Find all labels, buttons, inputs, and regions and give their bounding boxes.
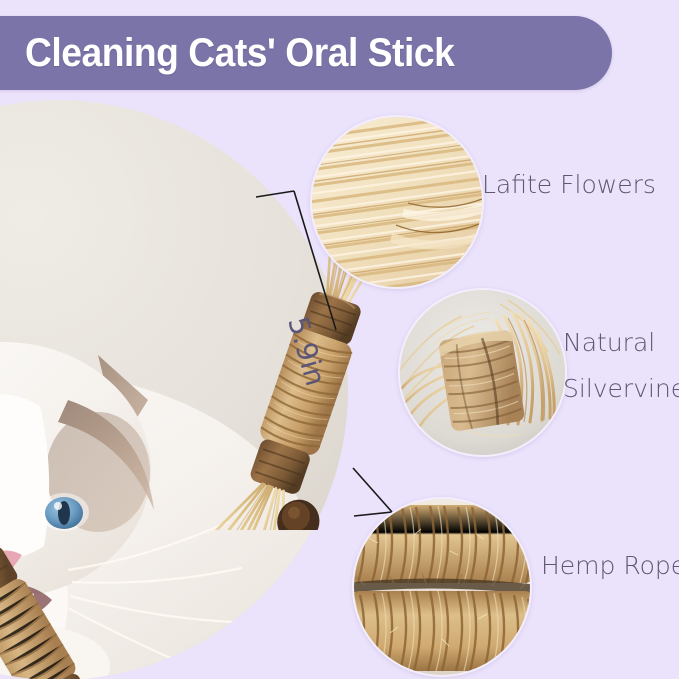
- infographic-canvas: Cleaning Cats' Oral Stick: [0, 0, 679, 679]
- page-title: Cleaning Cats' Oral Stick: [25, 31, 454, 76]
- label-line-natural: Natural: [563, 320, 679, 366]
- header-banner: Cleaning Cats' Oral Stick: [0, 16, 612, 90]
- label-line-silvervine: Silvervine: [563, 366, 679, 412]
- lafite-flowers-closeup: [310, 115, 484, 289]
- label-natural-silvervine: NaturalSilvervine: [563, 320, 679, 412]
- natural-silvervine-closeup: [398, 288, 567, 457]
- label-lafite-flowers: Lafite Flowers: [482, 162, 656, 208]
- label-hemp-rope: Hemp Rope: [541, 543, 679, 589]
- hemp-rope-closeup: [352, 497, 532, 677]
